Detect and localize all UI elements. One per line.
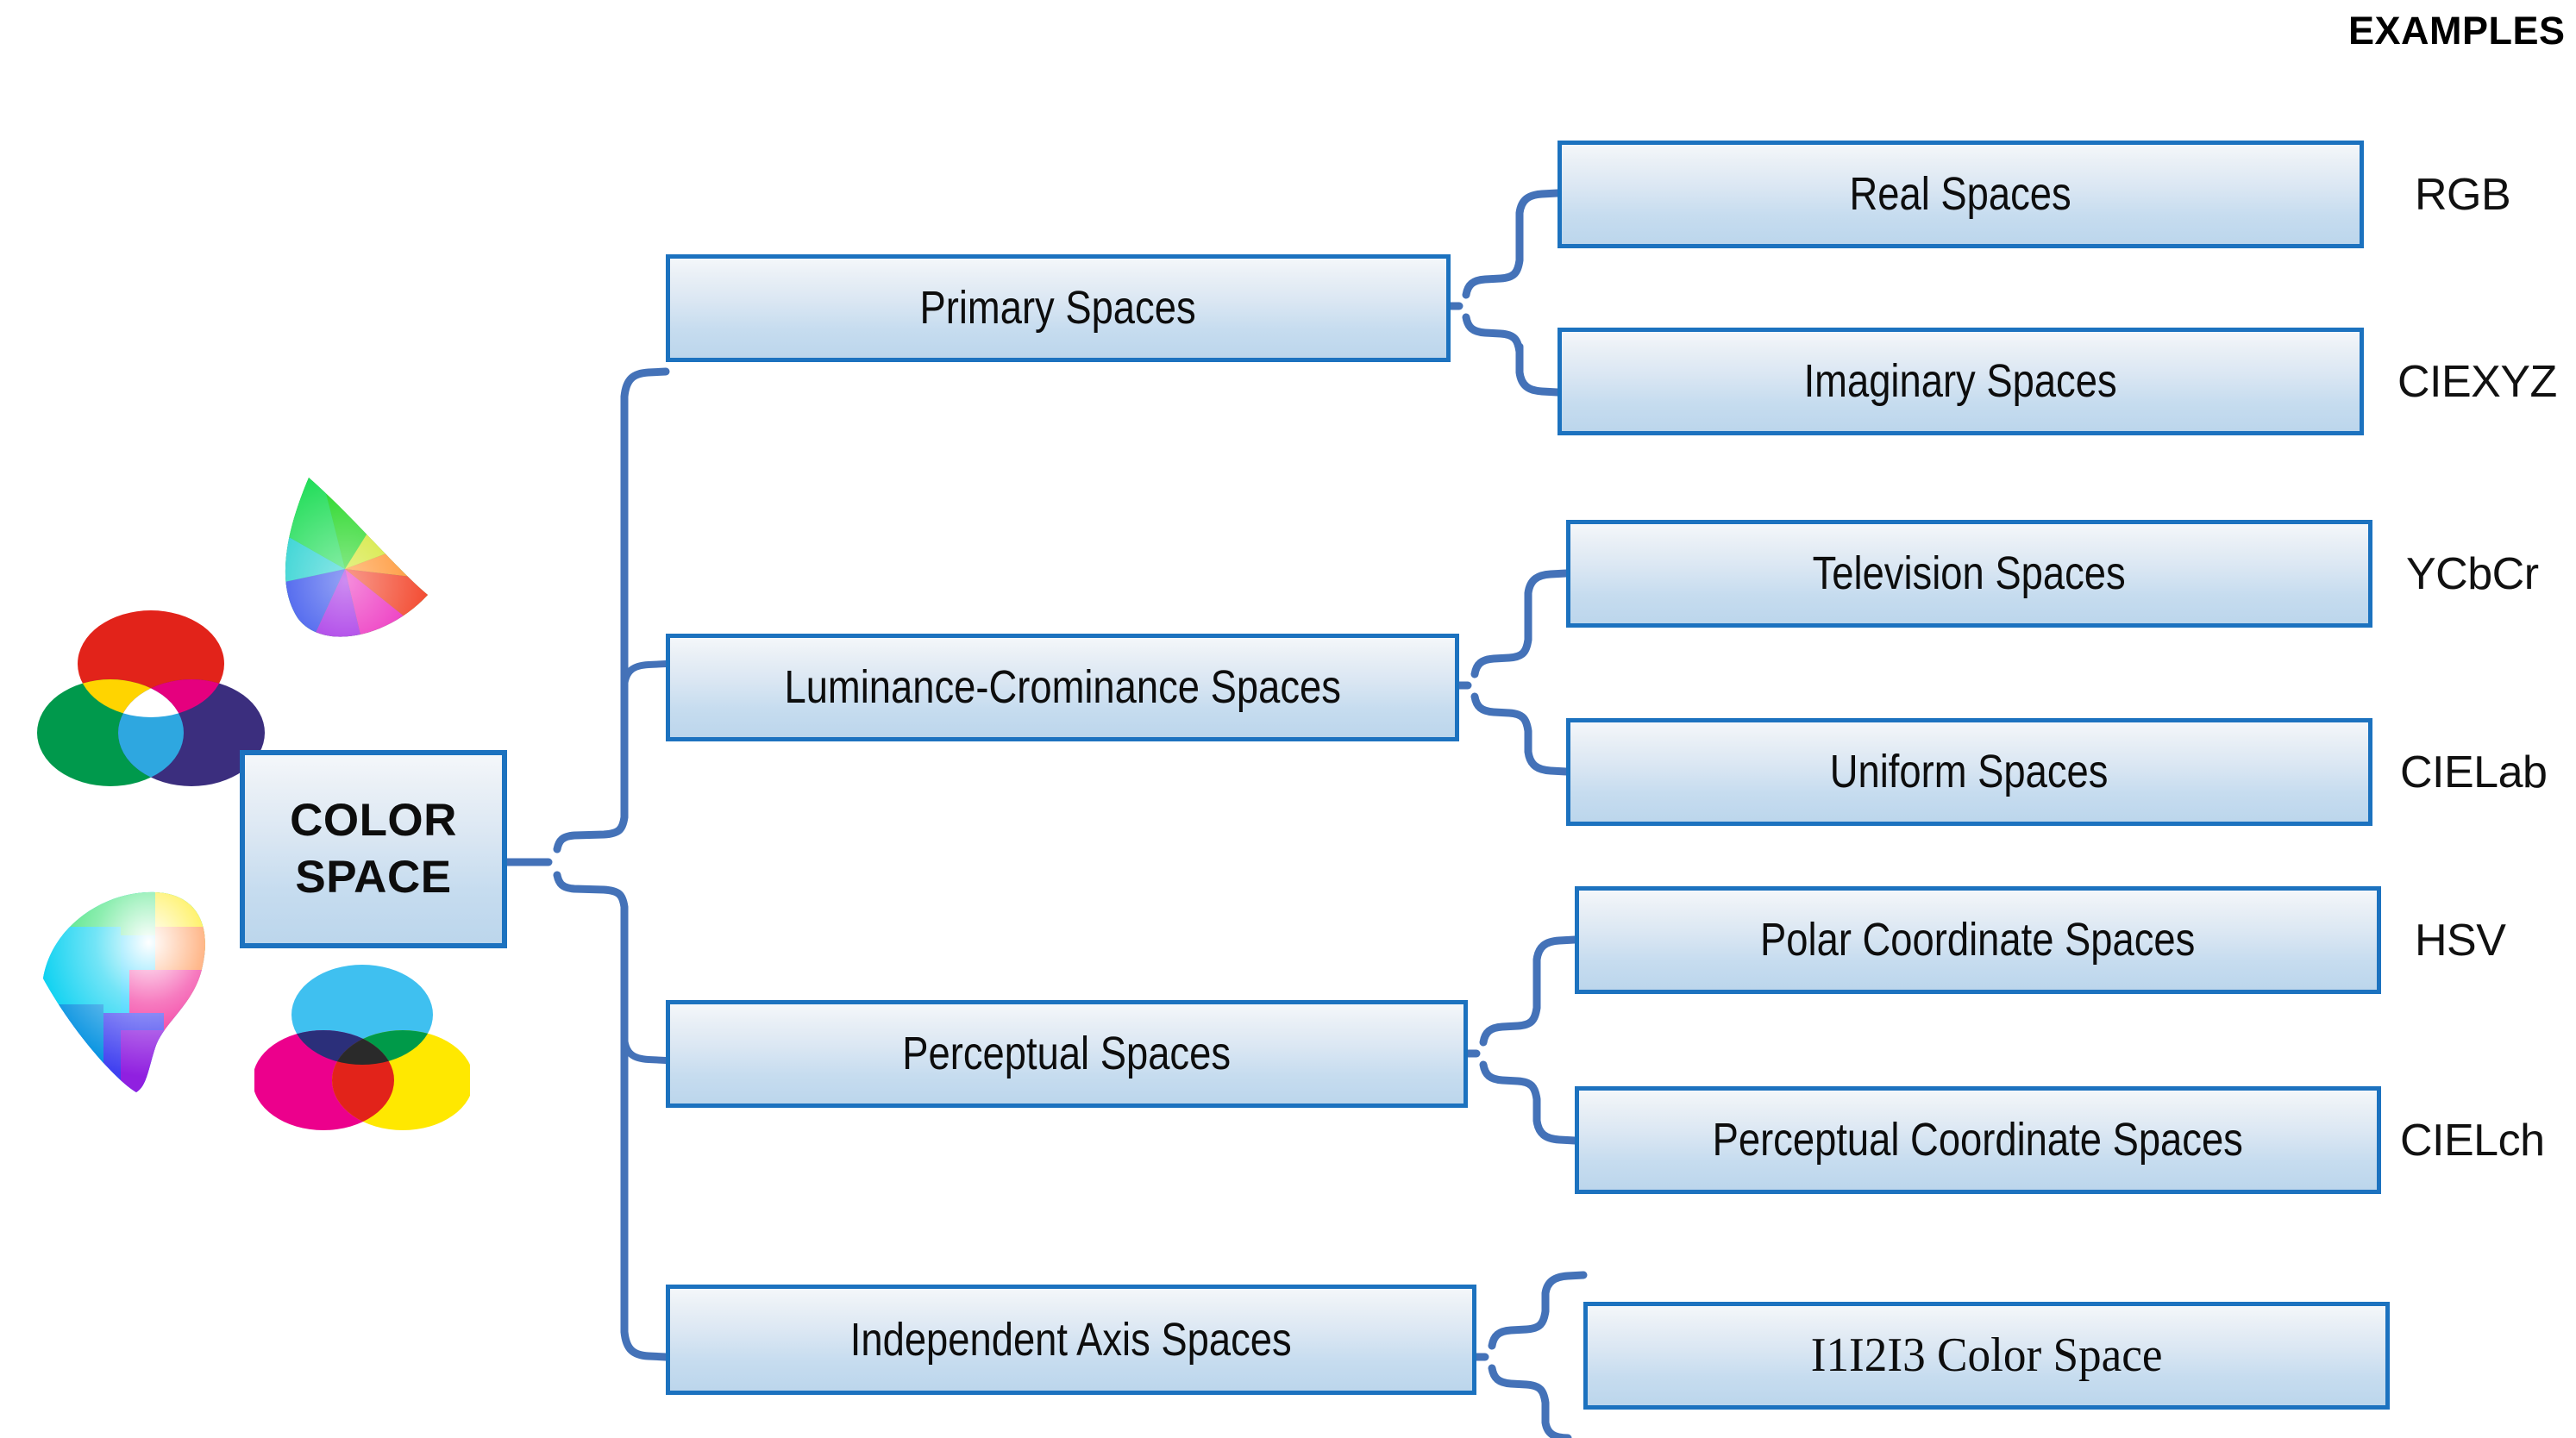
leaf-node-label: Television Spaces [1813,549,2126,598]
root-node-color-space[interactable]: COLOR SPACE [240,750,507,948]
leaf-node-perceptual-coordinate-spaces[interactable]: Perceptual Coordinate Spaces [1575,1086,2381,1194]
branch-node-label: Luminance-Crominance Spaces [784,663,1340,712]
example-label-cielab: CIELab [2400,747,2547,798]
leaf-node-uniform-spaces[interactable]: Uniform Spaces [1566,718,2372,826]
example-label-hsv: HSV [2415,915,2505,966]
leaf-node-polar-coordinate-spaces[interactable]: Polar Coordinate Spaces [1575,886,2381,994]
leaf-node-label: Imaginary Spaces [1804,357,2117,406]
leaf-node-imaginary-spaces[interactable]: Imaginary Spaces [1558,328,2364,435]
branch-node-label: Perceptual Spaces [903,1029,1232,1078]
gamut-teardrop-image [26,875,224,1099]
leaf-node-label: Perceptual Coordinate Spaces [1713,1116,2243,1165]
leaf-node-television-spaces[interactable]: Television Spaces [1566,520,2372,628]
leaf-node-label: Uniform Spaces [1830,747,2109,797]
branch-node-label: Independent Axis Spaces [850,1316,1292,1365]
example-label-ycbcr: YCbCr [2406,548,2539,600]
branch-node-luminance-crominance-spaces[interactable]: Luminance-Crominance Spaces [666,634,1459,741]
branch-node-label: Primary Spaces [920,284,1196,333]
example-label-ciexyz: CIEXYZ [2397,356,2557,408]
branch-node-independent-axis-spaces[interactable]: Independent Axis Spaces [666,1285,1476,1395]
leaf-node-label: Polar Coordinate Spaces [1760,916,2195,965]
examples-column-header: EXAMPLES [2348,9,2566,53]
branch-node-perceptual-spaces[interactable]: Perceptual Spaces [666,1000,1468,1108]
cie-chromaticity-gamut-image [259,466,440,664]
leaf-node-label: Real Spaces [1850,170,2071,219]
root-node-label: COLOR SPACE [290,792,457,907]
example-label-cielch: CIELch [2400,1115,2545,1166]
leaf-node-i1i2i3-color-space[interactable]: I1I2I3 Color Space [1583,1302,2390,1410]
example-label-rgb: RGB [2415,169,2510,221]
cmy-subtractive-venn-image [254,953,470,1142]
rgb-additive-venn-image [34,595,267,810]
branch-node-primary-spaces[interactable]: Primary Spaces [666,254,1451,362]
leaf-node-real-spaces[interactable]: Real Spaces [1558,141,2364,248]
color-space-taxonomy-diagram: COLOR SPACE Primary Spaces Luminance-Cro… [0,0,2576,1438]
leaf-node-label: I1I2I3 Color Space [1811,1330,2163,1381]
